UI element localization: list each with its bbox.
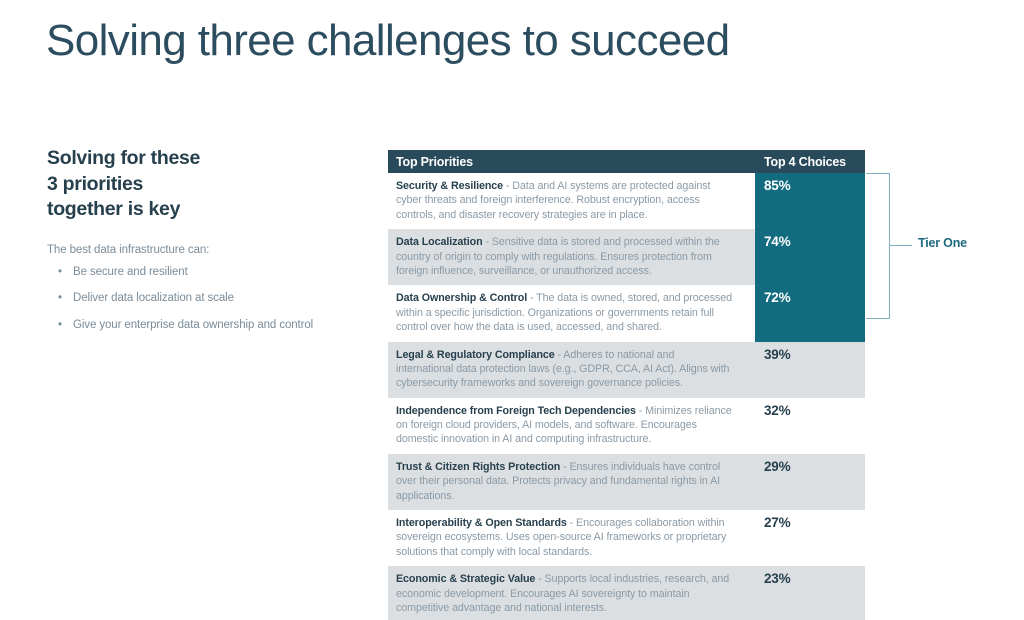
priority-description-cell: Economic & Strategic Value - Supports lo… [388,566,755,620]
left-panel-bullet-list: •Be secure and resilient•Deliver data lo… [47,265,347,333]
column-header-top-priorities: Top Priorities [388,155,755,169]
table-row: Data Localization - Sensitive data is st… [388,229,865,285]
column-header-top-4-choices: Top 4 Choices [755,155,865,169]
table-row: Interoperability & Open Standards - Enco… [388,510,865,566]
priorities-table: Top Priorities Top 4 Choices Security & … [388,150,865,620]
slide-canvas: Solving three challenges to succeed Solv… [0,0,1024,620]
priority-description-cell: Interoperability & Open Standards - Enco… [388,510,755,566]
priority-name: Economic & Strategic Value [396,573,535,585]
bullet-dot-icon: • [58,265,62,280]
page-title: Solving three challenges to succeed [46,16,729,66]
tier-one-leader-line [890,245,912,246]
priority-description-cell: Independence from Foreign Tech Dependenc… [388,398,755,454]
priority-separator: - [535,573,544,585]
left-summary-panel: Solving for these3 prioritiestogether is… [47,146,347,344]
left-panel-heading-line-0: Solving for these [47,146,347,172]
priority-separator: - [503,180,512,192]
top-4-choices-value: 32% [755,398,865,454]
top-4-choices-value: 29% [755,454,865,510]
bullet-dot-icon: • [58,291,62,306]
priority-description-cell: Legal & Regulatory Compliance - Adheres … [388,342,755,398]
priority-separator: - [527,292,536,304]
priority-separator: - [483,236,492,248]
top-4-choices-value: 74% [755,229,865,285]
top-4-choices-value: 39% [755,342,865,398]
bullet-dot-icon: • [58,318,62,333]
top-4-choices-value: 85% [755,173,865,229]
left-panel-bullet-0: •Be secure and resilient [47,265,347,280]
left-panel-bullet-label: Give your enterprise data ownership and … [73,319,313,331]
left-panel-heading: Solving for these3 prioritiestogether is… [47,146,347,223]
table-row: Economic & Strategic Value - Supports lo… [388,566,865,620]
left-panel-bullet-label: Deliver data localization at scale [73,292,234,304]
priority-description-cell: Data Ownership & Control - The data is o… [388,285,755,341]
priority-name: Legal & Regulatory Compliance [396,349,555,361]
left-panel-bullet-1: •Deliver data localization at scale [47,291,347,306]
tier-one-bracket [866,173,890,319]
priority-name: Data Localization [396,236,483,248]
left-panel-intro: The best data infrastructure can: [47,244,347,256]
priority-name: Independence from Foreign Tech Dependenc… [396,405,636,417]
table-row: Security & Resilience - Data and AI syst… [388,173,865,229]
priority-name: Security & Resilience [396,180,503,192]
left-panel-heading-line-2: together is key [47,197,347,223]
left-panel-heading-line-1: 3 priorities [47,172,347,198]
priority-description-cell: Data Localization - Sensitive data is st… [388,229,755,285]
table-row: Data Ownership & Control - The data is o… [388,285,865,341]
priority-name: Trust & Citizen Rights Protection [396,461,560,473]
top-4-choices-value: 23% [755,566,865,620]
priority-name: Data Ownership & Control [396,292,527,304]
left-panel-bullet-2: •Give your enterprise data ownership and… [47,318,347,333]
left-panel-bullet-label: Be secure and resilient [73,266,188,278]
table-header-row: Top Priorities Top 4 Choices [388,150,865,173]
top-4-choices-value: 72% [755,285,865,341]
priority-separator: - [555,349,564,361]
priority-name: Interoperability & Open Standards [396,517,567,529]
top-4-choices-value: 27% [755,510,865,566]
priority-separator: - [567,517,576,529]
priority-description-cell: Security & Resilience - Data and AI syst… [388,173,755,229]
priority-description-cell: Trust & Citizen Rights Protection - Ensu… [388,454,755,510]
table-row: Legal & Regulatory Compliance - Adheres … [388,342,865,398]
table-row: Independence from Foreign Tech Dependenc… [388,398,865,454]
priority-separator: - [636,405,645,417]
table-row: Trust & Citizen Rights Protection - Ensu… [388,454,865,510]
tier-one-label: Tier One [918,236,967,250]
table-body: Security & Resilience - Data and AI syst… [388,173,865,620]
